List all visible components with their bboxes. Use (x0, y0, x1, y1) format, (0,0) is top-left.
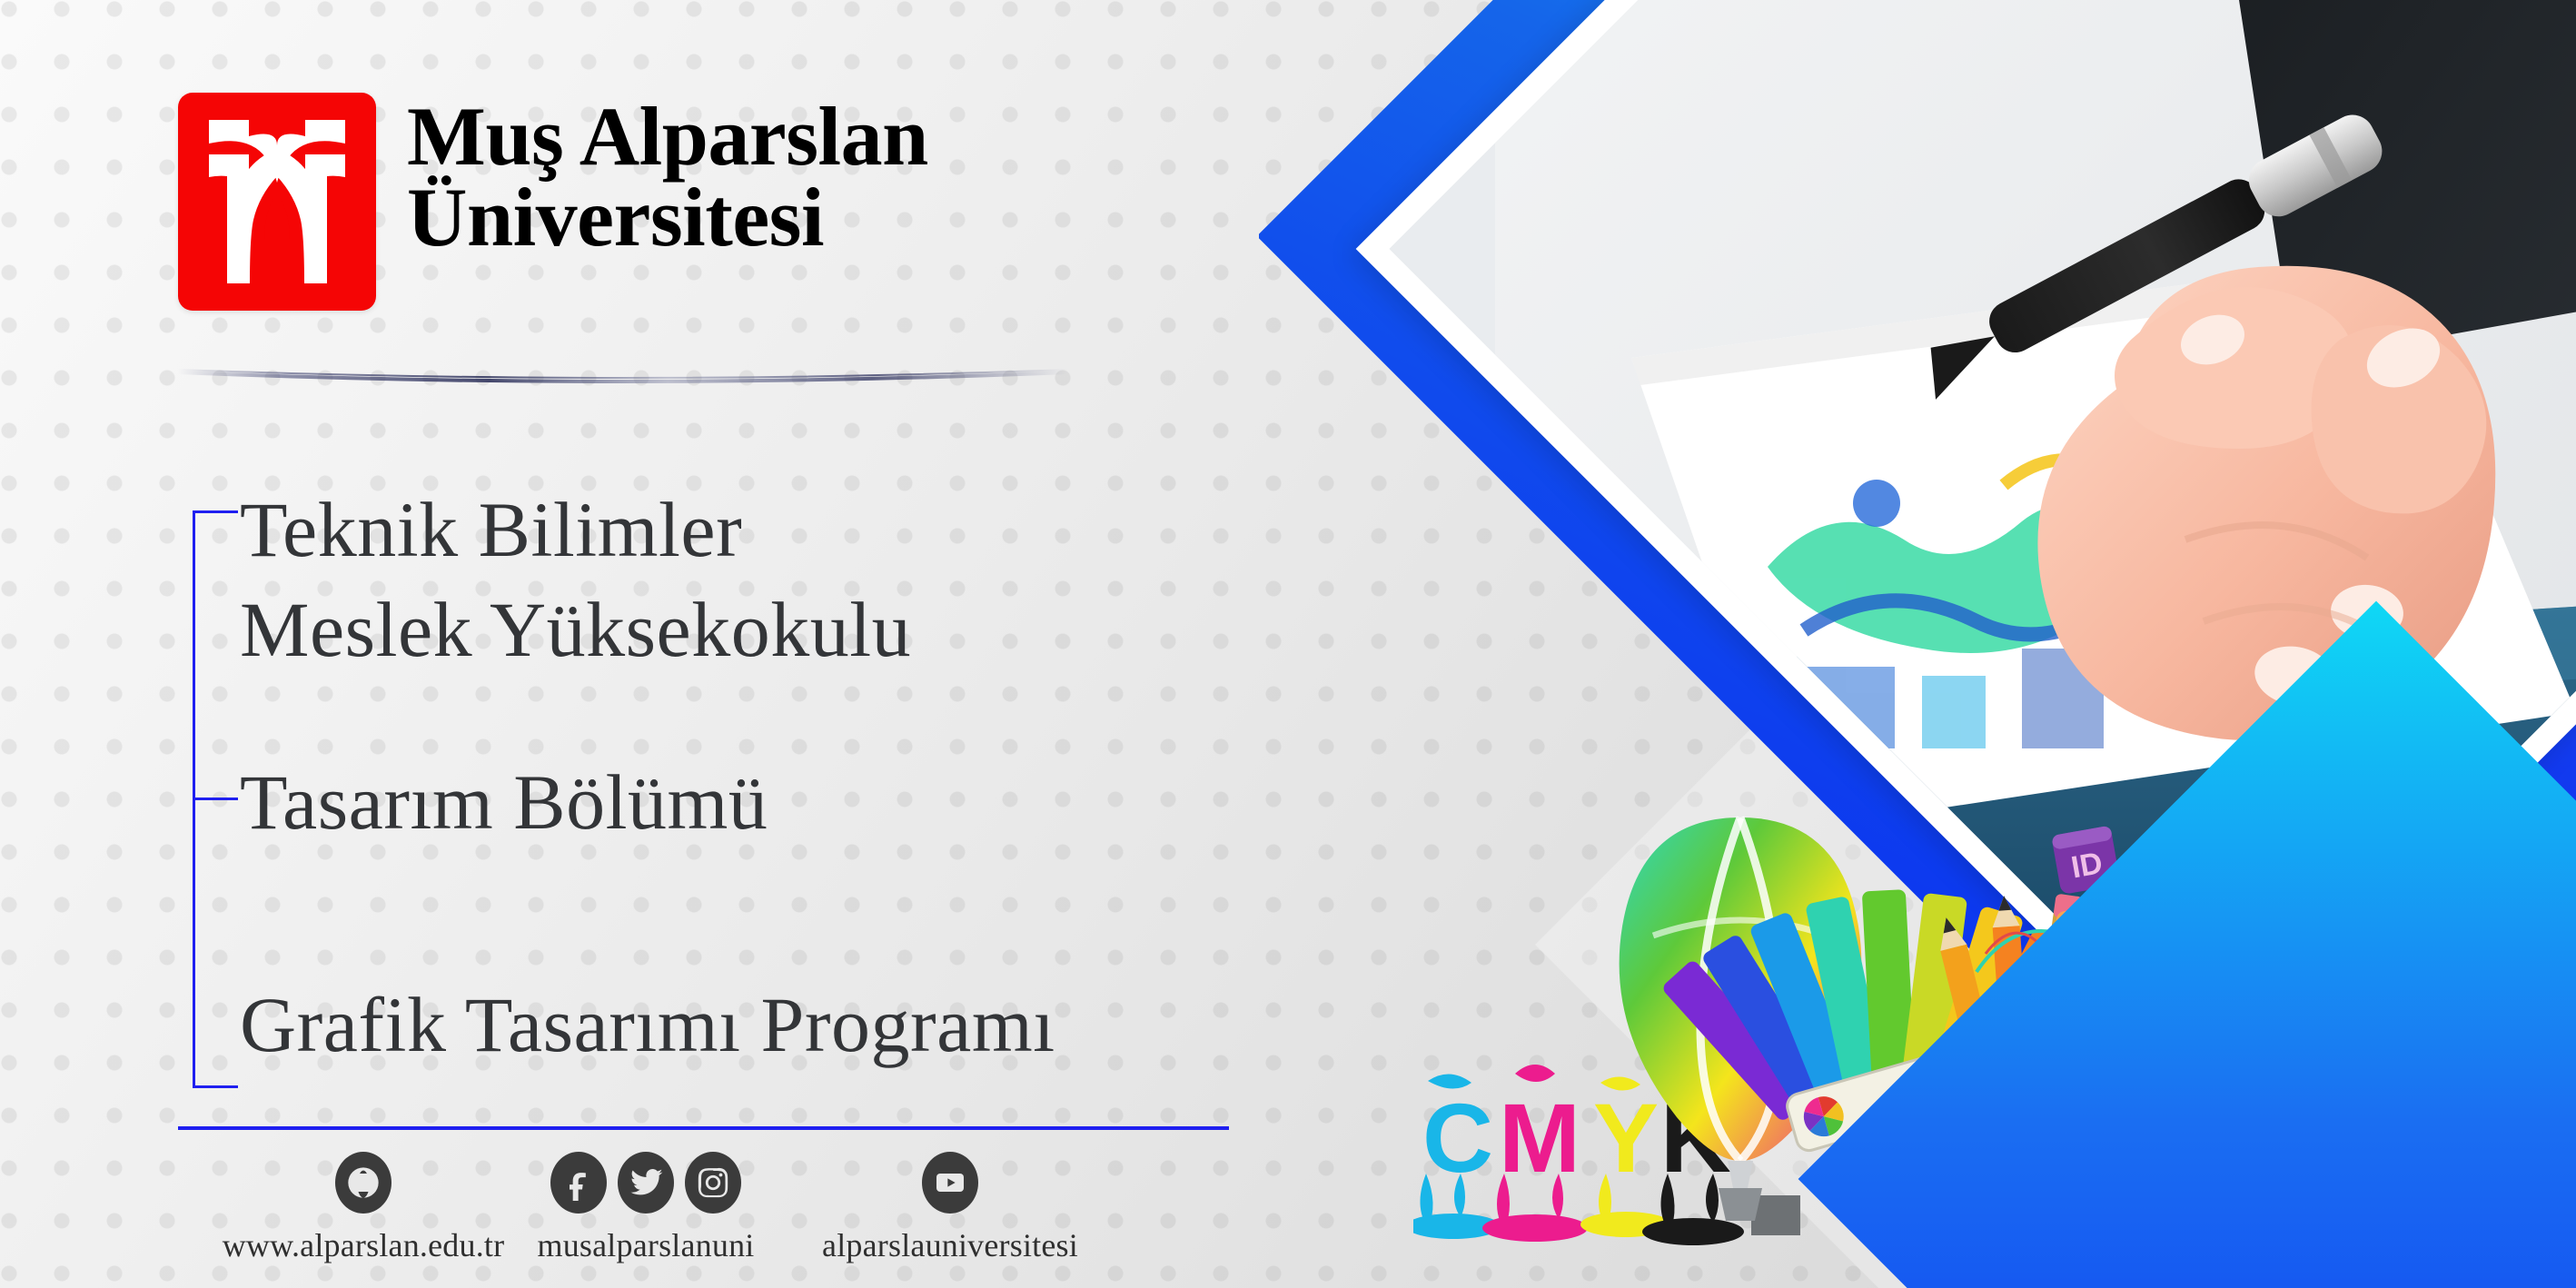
university-name-line1: Muş Alparslan (407, 90, 928, 183)
footer-icons-youtube (922, 1152, 978, 1214)
footer-group-website: www.alparslan.edu.tr (191, 1152, 536, 1264)
logo-divider (178, 362, 1068, 394)
university-logo-mark (178, 93, 376, 311)
school-name: Teknik Bilimler Meslek Yüksekokulu (240, 490, 911, 669)
youtube-icon[interactable] (922, 1152, 978, 1214)
footer-icons-social (550, 1152, 741, 1214)
facebook-icon[interactable] (550, 1152, 607, 1214)
bracket-tick-bottom (193, 1085, 238, 1088)
footer-label-social[interactable]: musalparslanuni (538, 1226, 755, 1264)
logo-row: Muş Alparslan Üniversitesi (178, 93, 928, 311)
bracket-tick-top (193, 510, 238, 513)
school-name-line1: Teknik Bilimler (240, 486, 742, 573)
svg-text:Y: Y (1593, 1083, 1659, 1193)
svg-text:C: C (1422, 1083, 1493, 1193)
department-name: Tasarım Bölümü (240, 763, 768, 841)
banner-root: C M Y (0, 0, 2576, 1288)
footer: www.alparslan.edu.tr musalparslanuni (178, 1152, 1250, 1279)
instagram-icon[interactable] (685, 1152, 741, 1214)
bracket-decoration (178, 510, 238, 1088)
globe-icon[interactable] (335, 1152, 391, 1214)
footer-group-social: musalparslanuni (496, 1152, 796, 1264)
artwork-zone: C M Y (1259, 0, 2576, 1288)
program-text-block: Teknik Bilimler Meslek Yüksekokulu Tasar… (178, 490, 1259, 1117)
university-name: Muş Alparslan Üniversitesi (407, 93, 928, 258)
footer-divider-rule (178, 1126, 1229, 1130)
bracket-tick-middle (193, 798, 238, 800)
footer-icons-website (335, 1152, 391, 1214)
footer-label-youtube[interactable]: alparslauniversitesi (822, 1226, 1078, 1264)
footer-group-youtube: alparslauniversitesi (759, 1152, 1141, 1264)
school-name-line2: Meslek Yüksekokulu (240, 590, 911, 669)
left-content-column: Muş Alparslan Üniversitesi (0, 0, 1299, 1288)
program-name: Grafik Tasarımı Programı (240, 986, 1055, 1064)
twitter-icon[interactable] (618, 1152, 674, 1214)
svg-text:M: M (1499, 1083, 1580, 1193)
footer-label-website[interactable]: www.alparslan.edu.tr (223, 1226, 505, 1264)
university-name-line2: Üniversitesi (407, 177, 928, 258)
